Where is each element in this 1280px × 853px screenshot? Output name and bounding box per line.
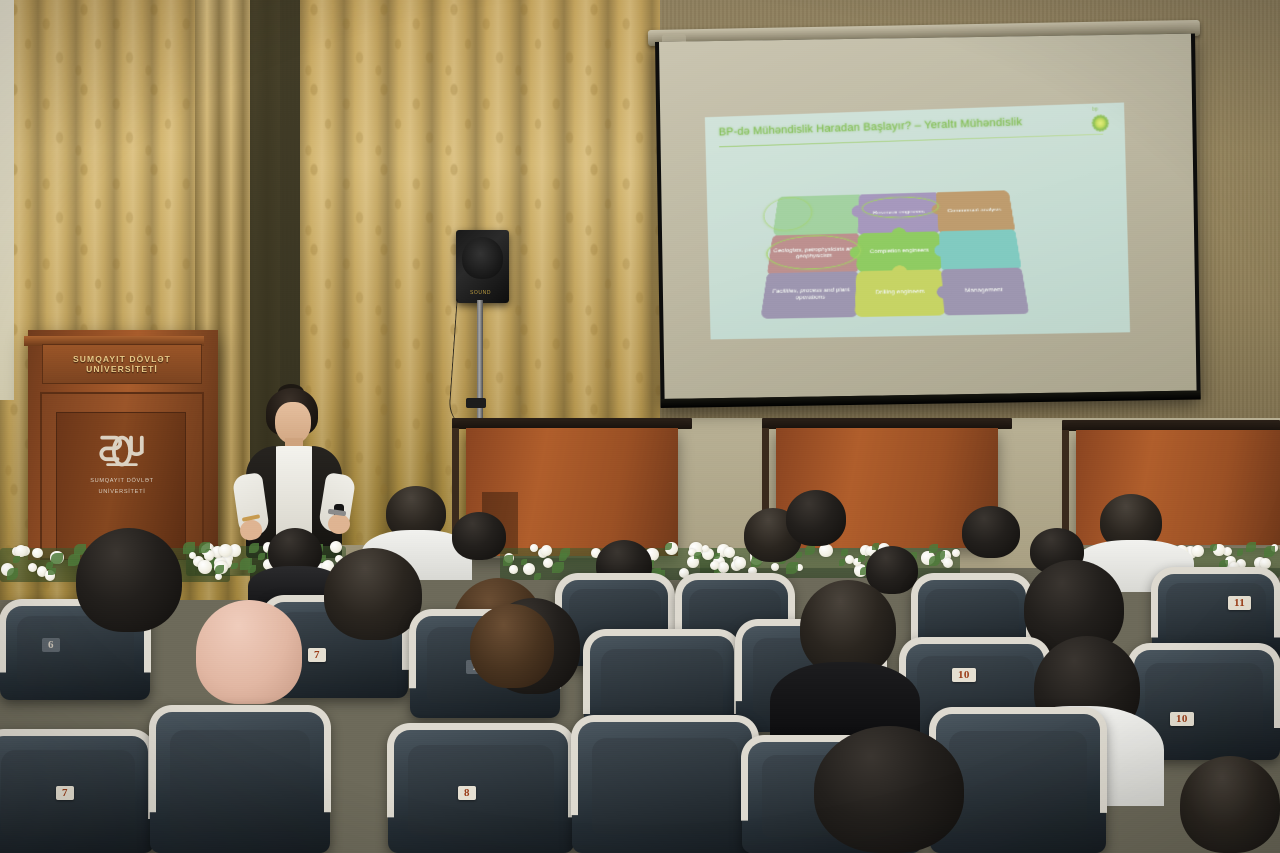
sdu-logo: SUMQAYIT DÖVLƏT UNİVERSİTETİ [88, 430, 156, 500]
foliage [858, 555, 865, 562]
seat[interactable] [0, 730, 154, 853]
seat-cushion [408, 745, 553, 835]
projection-screen-surface: BP-də Mühəndislik Haradan Başlayır? – Ye… [659, 34, 1197, 399]
audience-head [76, 528, 182, 632]
seat[interactable] [150, 706, 330, 853]
audience-head [962, 506, 1020, 558]
projected-slide: BP-də Mühəndislik Haradan Başlayır? – Ye… [705, 102, 1130, 339]
foliage [51, 553, 63, 565]
lectern-nameplate-line1: SUMQAYIT DÖVLƏT [73, 354, 171, 364]
bp-helios-icon: bp [1089, 109, 1112, 132]
puzzle-piece-management: Management [941, 268, 1029, 316]
foliage [714, 553, 720, 559]
puzzle-piece-f [939, 229, 1022, 271]
rose [845, 555, 854, 564]
puzzle-piece-commercial-analysis: Commercial analysis [936, 190, 1015, 232]
puzzle-diagram: Reservoir engineers Commercial analysis … [761, 189, 1060, 319]
bp-logo-label: bp [1092, 106, 1098, 112]
seat-cushion [170, 730, 310, 833]
rose [710, 561, 719, 570]
foliage [1210, 544, 1217, 551]
audience-head-foreground [1180, 756, 1280, 853]
seat-cushion [949, 731, 1086, 833]
speaker-brand-label: SOUND [470, 290, 491, 296]
auditorium-photo: BP-də Mühəndislik Haradan Başlayır? – Ye… [0, 0, 1280, 853]
rose [735, 557, 747, 569]
foliage [7, 568, 19, 580]
foliage [503, 555, 513, 565]
seat[interactable] [388, 724, 574, 853]
lectern-nameplate-line2: UNİVERSİTETİ [86, 364, 158, 374]
seat-number: 10 [952, 668, 976, 682]
foliage [199, 542, 210, 553]
lectern-nameplate: SUMQAYIT DÖVLƏT UNİVERSİTETİ [42, 344, 202, 384]
foliage [559, 553, 567, 561]
sdu-logo-mark-icon [95, 430, 149, 474]
rose [28, 563, 37, 572]
rose [724, 547, 735, 558]
sdu-logo-subtitle-2: UNİVERSİTETİ [99, 488, 146, 496]
seat-cushion [592, 738, 737, 834]
rose [530, 544, 538, 552]
presenter-hand-right [328, 514, 350, 534]
rose [541, 545, 552, 556]
rose [198, 560, 211, 573]
seat-number: 11 [1228, 596, 1251, 610]
foliage [805, 545, 815, 555]
seat-cushion [1166, 583, 1266, 650]
pa-speaker: SOUND [456, 230, 509, 303]
rose [219, 544, 232, 557]
sdu-logo-subtitle-1: SUMQAYIT DÖVLƏT [90, 477, 154, 485]
audience-headscarf [196, 600, 302, 704]
seat-number: 10 [1170, 712, 1194, 726]
audience-head [470, 604, 554, 688]
foliage [936, 551, 945, 560]
foliage [534, 573, 541, 580]
rose [509, 565, 517, 573]
rose [543, 558, 553, 568]
seat-number: 7 [56, 786, 74, 800]
seat-number: 6 [42, 638, 60, 652]
foliage [694, 552, 701, 559]
audience-head [786, 490, 846, 546]
audience-head [452, 512, 506, 560]
rose [32, 548, 42, 558]
audience-head-foreground [814, 726, 964, 853]
speaker-cone-icon [462, 237, 503, 279]
seat[interactable] [572, 716, 758, 853]
foliage [231, 563, 237, 569]
audience-head [324, 548, 422, 640]
foliage [839, 559, 845, 565]
seat-cushion [1145, 663, 1264, 744]
rose [771, 563, 779, 571]
rose [943, 558, 953, 568]
foliage [841, 549, 848, 556]
bp-logo-core [1091, 114, 1109, 132]
projection-screen: BP-də Mühəndislik Haradan Başlayır? – Ye… [655, 34, 1201, 407]
foliage [249, 543, 259, 553]
foliage [552, 562, 563, 573]
puzzle-piece-facilities: Facilities, process and plant operations [761, 271, 859, 319]
seat-number: 7 [308, 648, 326, 662]
curtain-edge [0, 0, 14, 400]
foliage [240, 558, 252, 570]
rose [1223, 547, 1232, 556]
rose [1192, 545, 1204, 557]
foliage [1246, 542, 1256, 552]
seat-number: 8 [458, 786, 476, 800]
